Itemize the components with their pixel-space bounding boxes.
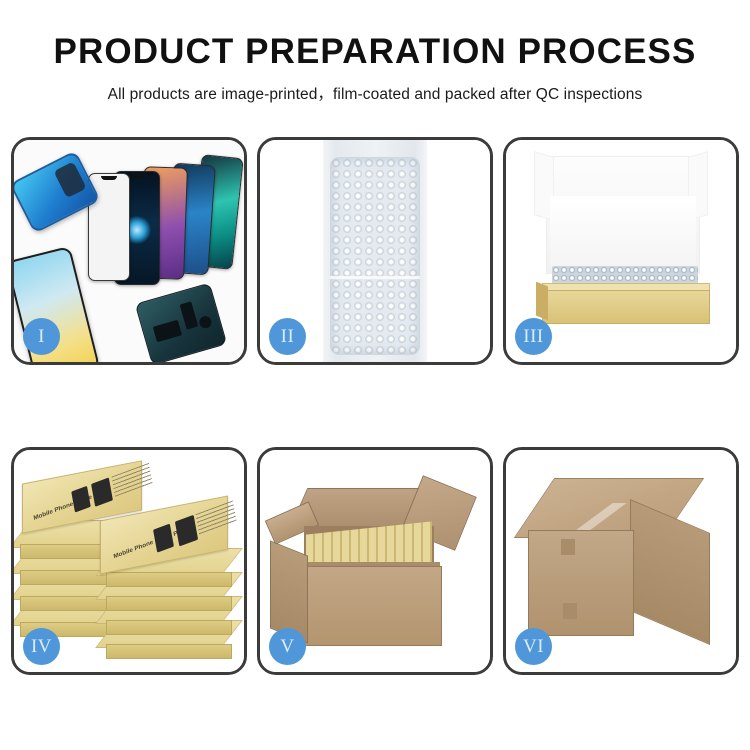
process-steps-grid: I II III bbox=[11, 137, 739, 675]
step-badge-3: III bbox=[515, 318, 552, 355]
sealed-carton-front-face bbox=[528, 530, 634, 636]
step-panel-5[interactable]: V bbox=[257, 447, 493, 675]
page-header: PRODUCT PREPARATION PROCESS All products… bbox=[0, 0, 750, 104]
box-tray-front bbox=[542, 290, 710, 324]
page-subtitle: All products are image-printed，film-coat… bbox=[0, 82, 750, 104]
box-tray-side bbox=[536, 282, 548, 321]
step-panel-1[interactable]: I bbox=[11, 137, 247, 365]
step-badge-2: II bbox=[269, 318, 306, 355]
bubble-wrapped-product bbox=[330, 157, 420, 355]
step-panel-4[interactable]: Mobile Phone Spare Parts Mobile Phone Sp… bbox=[11, 447, 247, 675]
step-panel-6[interactable]: VI bbox=[503, 447, 739, 675]
page-title: PRODUCT PREPARATION PROCESS bbox=[0, 34, 750, 71]
foam-insert bbox=[550, 196, 696, 268]
step-panel-2[interactable]: II bbox=[257, 137, 493, 365]
carton-front-face bbox=[304, 566, 442, 646]
step-badge-1: I bbox=[23, 318, 60, 355]
step-badge-5: V bbox=[269, 628, 306, 665]
step-panel-3[interactable]: III bbox=[503, 137, 739, 365]
step-badge-6: VI bbox=[515, 628, 552, 665]
step-badge-4: IV bbox=[23, 628, 60, 665]
